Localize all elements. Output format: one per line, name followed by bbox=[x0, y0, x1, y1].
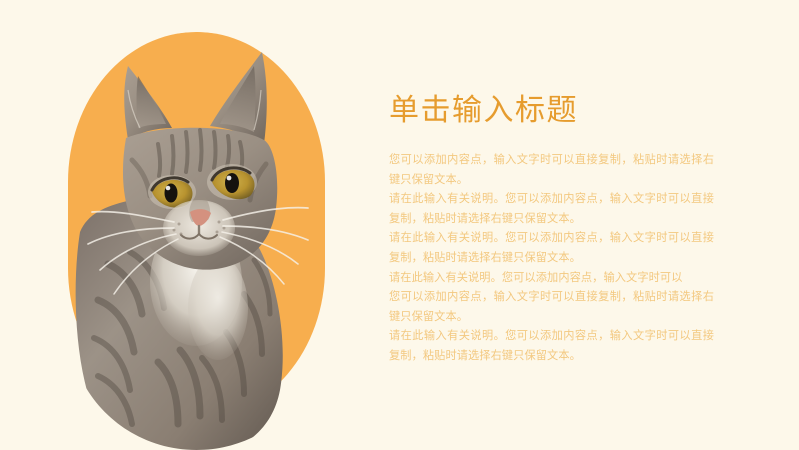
text-column: 单击输入标题 您可以添加内容点，输入文字时可以直接复制，粘贴时请选择右键只保留文… bbox=[389, 0, 714, 450]
body-text-block-2[interactable]: 您可以添加内容点，输入文字时可以直接复制，粘贴时请选择右键只保留文本。 请在此输… bbox=[389, 288, 714, 366]
paragraph: 请在此输入有关说明。您可以添加内容点，输入文字时可以 bbox=[389, 269, 714, 289]
cat-illustration bbox=[68, 32, 325, 450]
image-placeholder-area[interactable] bbox=[0, 0, 360, 450]
cat-photo[interactable] bbox=[68, 32, 325, 450]
page-title[interactable]: 单击输入标题 bbox=[389, 92, 578, 130]
paragraph: 请在此输入有关说明。您可以添加内容点，输入文字时可以直接复制，粘贴时请选择右键只… bbox=[389, 190, 714, 229]
body-text-block-1[interactable]: 您可以添加内容点，输入文字时可以直接复制，粘贴时请选择右键只保留文本。 请在此输… bbox=[389, 151, 714, 288]
paragraph: 请在此输入有关说明。您可以添加内容点，输入文字时可以直接复制，粘贴时请选择右键只… bbox=[389, 327, 714, 366]
paragraph: 请在此输入有关说明。您可以添加内容点，输入文字时可以直接复制，粘贴时请选择右键只… bbox=[389, 229, 714, 268]
slide-canvas: 单击输入标题 您可以添加内容点，输入文字时可以直接复制，粘贴时请选择右键只保留文… bbox=[0, 0, 799, 450]
paragraph: 您可以添加内容点，输入文字时可以直接复制，粘贴时请选择右键只保留文本。 bbox=[389, 288, 714, 327]
paragraph: 您可以添加内容点，输入文字时可以直接复制，粘贴时请选择右键只保留文本。 bbox=[389, 151, 714, 190]
